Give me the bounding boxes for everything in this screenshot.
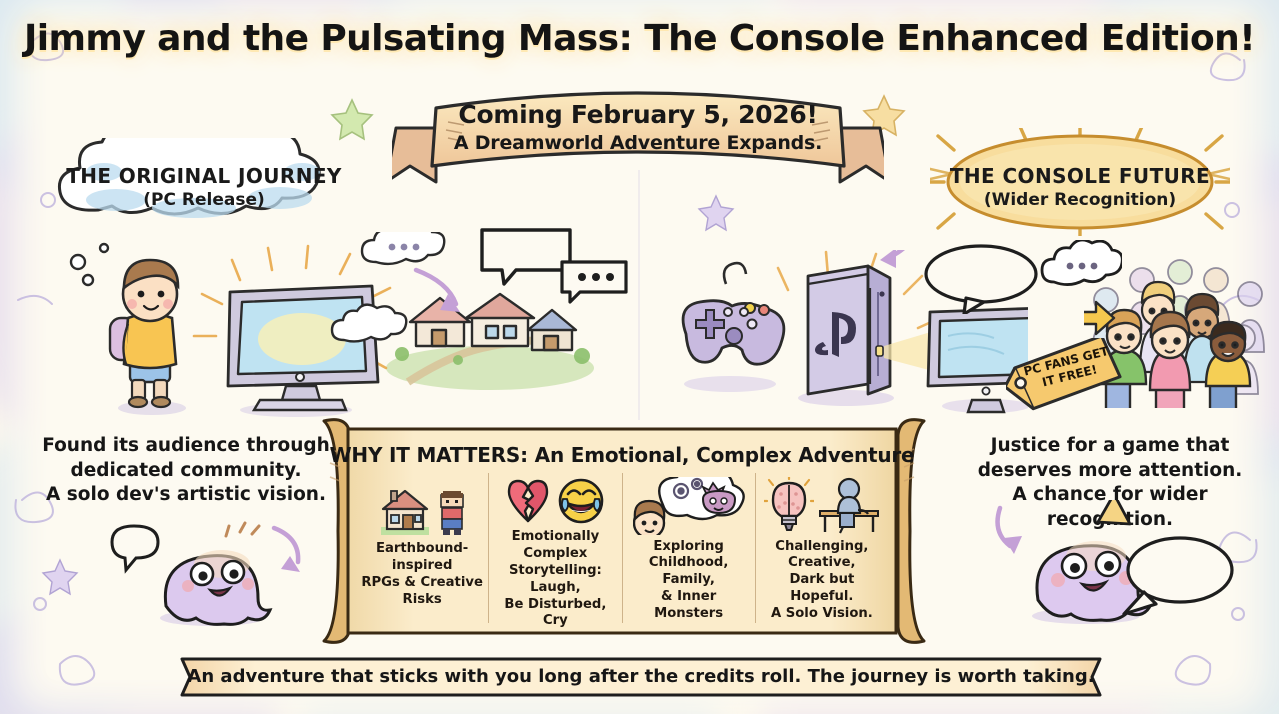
left-body-copy: Found its audience through dedicated com… bbox=[36, 434, 336, 508]
left-body-line-2: dedicated community. bbox=[36, 459, 336, 484]
right-heading-line-2: (Wider Recognition) bbox=[930, 190, 1230, 210]
enhanced-content-bubble bbox=[922, 242, 1040, 314]
dots-bubble-right bbox=[1040, 240, 1122, 298]
why-it-matters-scroll: WHY IT MATTERS: An Emotional, Complex Ad… bbox=[318, 415, 926, 647]
left-body-line-1: Found its audience through bbox=[36, 434, 336, 459]
panel-4-line-3: A Solo Vision. bbox=[760, 606, 884, 623]
left-section-heading-cloud: THE ORIGINAL JOURNEY (PC Release) bbox=[44, 138, 364, 230]
left-heading-line-1: THE ORIGINAL JOURNEY bbox=[44, 164, 364, 188]
panel-2-line-3: Be Disturbed, Cry bbox=[493, 597, 617, 631]
pc-fans-free-tag: PC FANS GET IT FREE! bbox=[1006, 338, 1124, 412]
panel-1-line-2: RPGs & Creative bbox=[360, 575, 484, 592]
panel-4-line-1: Challenging, Creative, bbox=[760, 539, 884, 573]
panel-2-line-1: Emotionally Complex bbox=[493, 529, 617, 563]
closing-banner: An adventure that sticks with you long a… bbox=[176, 655, 1106, 699]
dots-bubble-left bbox=[558, 256, 630, 304]
left-body-line-3: A solo dev's artistic vision. bbox=[36, 483, 336, 508]
pixel-house-icon bbox=[377, 485, 433, 537]
panel-3-art bbox=[633, 475, 745, 535]
brain-lightbulb-icon bbox=[764, 477, 814, 535]
release-date-ribbon: Coming February 5, 2026! A Dreamworld Ad… bbox=[392, 86, 884, 184]
right-heading-line-1: THE CONSOLE FUTURE bbox=[930, 164, 1230, 188]
ribbon-line-1: Coming February 5, 2026! bbox=[392, 100, 884, 129]
scroll-title-strong: WHY IT MATTERS: bbox=[330, 443, 528, 467]
ribbon-line-2: A Dreamworld Adventure Expands. bbox=[392, 132, 884, 154]
broken-heart-icon bbox=[505, 475, 553, 525]
laughing-crying-face-icon bbox=[557, 475, 605, 525]
pixel-hero-character-icon bbox=[437, 485, 467, 537]
infographic-poster: Jimmy and the Pulsating Mass: The Consol… bbox=[0, 0, 1279, 714]
person-pink bbox=[1150, 312, 1190, 408]
boy-with-backpack-icon bbox=[110, 260, 186, 415]
panel-1-line-1: Earthbound-inspired bbox=[360, 541, 484, 575]
panel-3-line-2: Childhood, Family, bbox=[627, 555, 751, 589]
why-it-matters-panels: Earthbound-inspired RPGs & Creative Risk… bbox=[356, 473, 888, 623]
panel-1-caption: Earthbound-inspired RPGs & Creative Risk… bbox=[356, 541, 488, 609]
panel-1-art bbox=[377, 475, 467, 537]
panel-solo-vision: Challenging, Creative, Dark but Hopeful.… bbox=[755, 473, 888, 623]
panel-childhood-monsters: Exploring Childhood, Family, & Inner Mon… bbox=[622, 473, 755, 623]
scroll-title: WHY IT MATTERS: An Emotional, Complex Ad… bbox=[318, 443, 926, 467]
solo-developer-at-desk-icon bbox=[818, 477, 880, 535]
panel-4-art bbox=[764, 475, 880, 535]
scroll-title-rest: An Emotional, Complex Adventure bbox=[528, 443, 915, 467]
purple-blob-monster-icon bbox=[104, 520, 324, 630]
panel-1-line-3: Risks bbox=[360, 592, 484, 609]
right-section-heading-sun: THE CONSOLE FUTURE (Wider Recognition) bbox=[930, 128, 1230, 236]
panel-3-caption: Exploring Childhood, Family, & Inner Mon… bbox=[623, 539, 755, 623]
panel-3-line-1: Exploring bbox=[627, 539, 751, 556]
thought-cloud-gears-monster-icon bbox=[633, 477, 745, 535]
panel-2-caption: Emotionally Complex Storytelling: Laugh,… bbox=[489, 529, 621, 630]
closing-banner-text: An adventure that sticks with you long a… bbox=[176, 666, 1106, 687]
person-yellow bbox=[1206, 322, 1250, 408]
panel-emotional-storytelling: Emotionally Complex Storytelling: Laugh,… bbox=[488, 473, 621, 623]
game-controller-icon bbox=[683, 263, 784, 392]
panel-4-caption: Challenging, Creative, Dark but Hopeful.… bbox=[756, 539, 888, 623]
right-body-line-2: deserves more attention. bbox=[952, 459, 1268, 484]
panel-3-line-3: & Inner Monsters bbox=[627, 589, 751, 623]
panel-2-line-2: Storytelling: Laugh, bbox=[493, 563, 617, 597]
panel-4-line-2: Dark but Hopeful. bbox=[760, 572, 884, 606]
poster-title: Jimmy and the Pulsating Mass: The Consol… bbox=[0, 18, 1279, 59]
left-heading-line-2: (PC Release) bbox=[44, 190, 364, 210]
panel-2-art bbox=[505, 475, 605, 525]
right-body-line-1: Justice for a game that bbox=[952, 434, 1268, 459]
new-content-bubble bbox=[1118, 534, 1236, 618]
panel-earthbound-rpgs: Earthbound-inspired RPGs & Creative Risk… bbox=[356, 473, 488, 623]
